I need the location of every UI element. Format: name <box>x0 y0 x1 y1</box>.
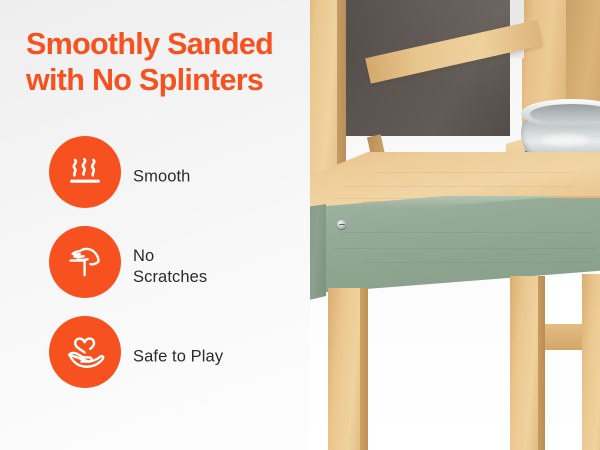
screw-head-top <box>337 220 346 229</box>
feature-item-smooth: Smooth <box>0 132 330 222</box>
hand-holding-heart-icon <box>49 316 121 388</box>
headline-line-1: Smoothly Sanded <box>26 27 316 63</box>
feature-label-no-scratches: No Scratches <box>133 246 207 288</box>
heat-waves-icon <box>49 136 121 208</box>
apron-grain-line <box>332 248 597 249</box>
apron-grain-line <box>342 232 592 233</box>
bowl-highlight <box>542 134 588 146</box>
hand-on-surface-icon <box>49 226 121 298</box>
feature-list: Smooth <box>0 132 330 402</box>
headline-line-2: with No Splinters <box>26 63 316 99</box>
info-panel: Smoothly Sanded with No Splinters Sm <box>0 0 330 450</box>
wood-grain-line <box>344 186 574 187</box>
feature-item-safe-to-play: Safe to Play <box>0 312 330 402</box>
leg-far-right <box>582 274 600 450</box>
leg-back-shadow <box>538 276 545 450</box>
headline: Smoothly Sanded with No Splinters <box>26 27 316 98</box>
shelf-gap <box>544 276 584 326</box>
wood-grain-line <box>374 172 574 173</box>
feature-label-safe-to-play: Safe to Play <box>133 347 223 368</box>
product-photo-canvas <box>310 0 600 450</box>
feature-item-no-scratches: No Scratches <box>0 222 330 312</box>
leg-front-shadow <box>360 288 368 450</box>
feature-label-smooth: Smooth <box>133 167 190 188</box>
apron-grain-line <box>362 262 592 263</box>
product-photo <box>310 0 600 450</box>
promo-banner: Smoothly Sanded with No Splinters Sm <box>0 0 600 450</box>
